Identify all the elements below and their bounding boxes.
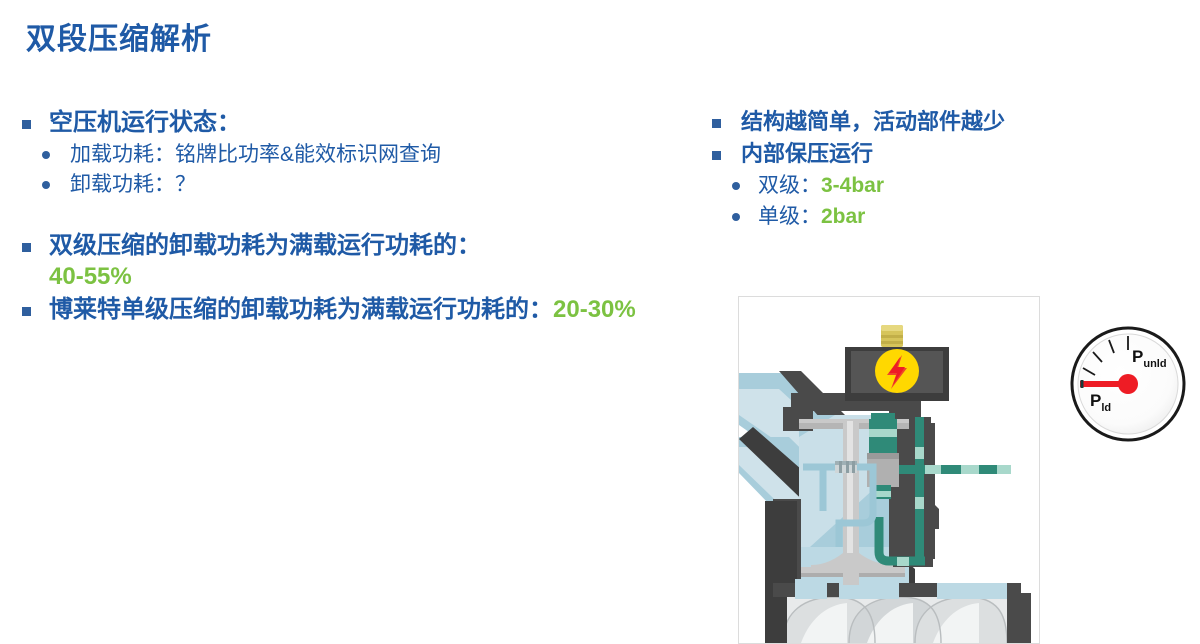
square-bullet-icon xyxy=(22,307,31,316)
bullet-operating-status: 空压机运行状态： xyxy=(18,108,708,139)
pressure-gauge: Punld Pld xyxy=(1068,324,1188,444)
sub-item-unload-power-label: 卸载功耗：？ xyxy=(70,171,708,199)
gauge-hub xyxy=(1118,374,1138,394)
spacer xyxy=(18,201,708,231)
left-content-column: 空压机运行状态： 加载功耗：铭牌比功率&能效标识网查询 卸载功耗：？ 双级压缩的… xyxy=(18,108,708,328)
square-bullet-icon xyxy=(712,119,721,128)
dot-bullet-icon xyxy=(42,181,50,189)
sub-item-two-stage-label: 双级： xyxy=(758,174,821,197)
pipe-fitting xyxy=(835,461,857,473)
statement-single-stage-body: 博莱特单级压缩的卸载功耗为满载运行功耗的：20-30% xyxy=(49,295,708,326)
sub-item-single-stage-body: 单级：2bar xyxy=(758,203,1100,231)
page-title: 双段压缩解析 xyxy=(26,14,212,58)
sub-item-load-power-label: 加载功耗：铭牌比功率&能效标识网查询 xyxy=(70,141,708,169)
bullet-simpler-structure-label: 结构越简单，活动部件越少 xyxy=(741,108,1100,136)
sub-item-two-stage-body: 双级：3-4bar xyxy=(758,172,1100,200)
statement-single-stage-text: 博莱特单级压缩的卸载功耗为满载运行功耗的： xyxy=(49,296,553,323)
right-content-column: 结构越简单，活动部件越少 内部保压运行 双级：3-4bar 单级：2bar xyxy=(700,108,1100,233)
statement-single-stage: 博莱特单级压缩的卸载功耗为满载运行功耗的：20-30% xyxy=(18,295,708,326)
compressor-intake-valve-cutaway-icon xyxy=(739,297,1039,643)
sub-item-single-stage-label: 单级： xyxy=(758,205,821,228)
screw-rotors-group xyxy=(773,597,1021,643)
compressor-diagram-panel xyxy=(738,296,1040,644)
bullet-internal-pressure: 内部保压运行 xyxy=(700,140,1100,168)
statement-two-stage-text: 双级压缩的卸载功耗为满载运行功耗的： xyxy=(49,232,481,259)
statement-two-stage-body: 双级压缩的卸载功耗为满载运行功耗的： 40-55% xyxy=(49,231,708,292)
statement-two-stage: 双级压缩的卸载功耗为满载运行功耗的： 40-55% xyxy=(18,231,708,292)
square-bullet-icon xyxy=(22,120,31,129)
sub-item-load-power: 加载功耗：铭牌比功率&能效标识网查询 xyxy=(18,141,708,169)
sub-item-single-stage-value: 2bar xyxy=(821,205,865,228)
bullet-operating-status-label: 空压机运行状态： xyxy=(49,108,708,139)
slide-root: 双段压缩解析 空压机运行状态： 加载功耗：铭牌比功率&能效标识网查询 卸载功耗：… xyxy=(0,0,1200,644)
sub-item-single-stage-pressure: 单级：2bar xyxy=(700,203,1100,231)
bullet-simpler-structure: 结构越简单，活动部件越少 xyxy=(700,108,1100,136)
bullet-internal-pressure-label: 内部保压运行 xyxy=(741,140,1100,168)
dot-bullet-icon xyxy=(732,213,740,221)
housing-right-block xyxy=(891,423,935,559)
sub-item-unload-power: 卸载功耗：？ xyxy=(18,171,708,199)
square-bullet-icon xyxy=(712,151,721,160)
square-bullet-icon xyxy=(22,243,31,252)
rotor-chamber-left-wall xyxy=(765,597,787,643)
sub-item-two-stage-value: 3-4bar xyxy=(821,174,884,197)
sub-item-two-stage-pressure: 双级：3-4bar xyxy=(700,172,1100,200)
pressure-gauge-icon: Punld Pld xyxy=(1068,324,1188,444)
statement-single-stage-value: 20-30% xyxy=(553,296,636,323)
rotor-chamber-right-wall xyxy=(1007,593,1031,643)
statement-two-stage-value: 40-55% xyxy=(49,263,132,290)
dot-bullet-icon xyxy=(42,151,50,159)
dot-bullet-icon xyxy=(732,182,740,190)
